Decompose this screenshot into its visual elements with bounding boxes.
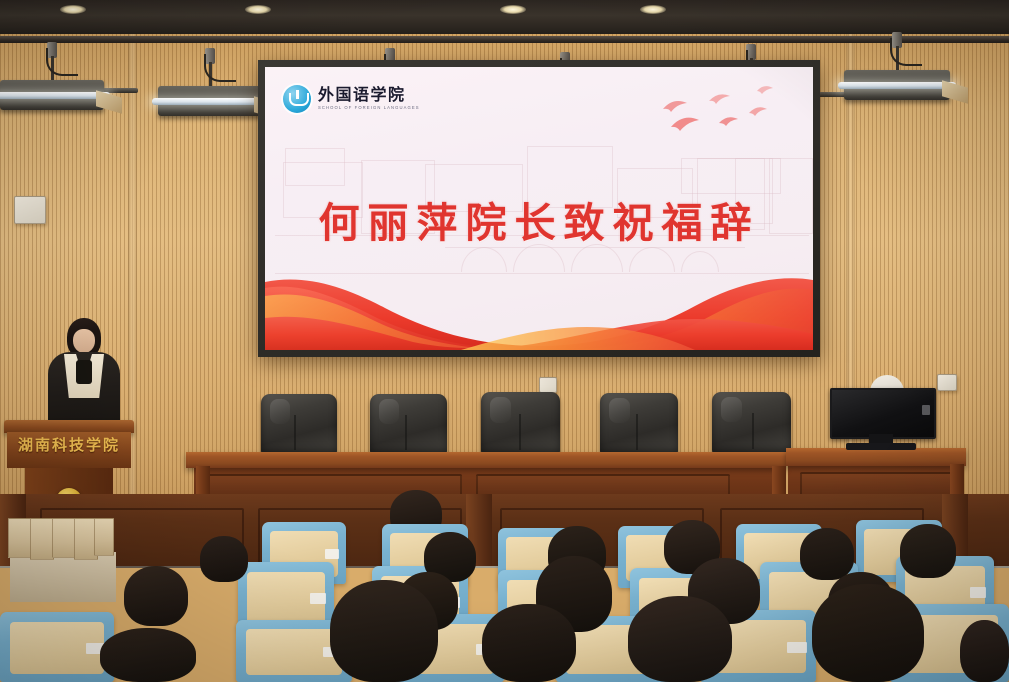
stage-spotlight-icon <box>844 32 950 108</box>
audience-head <box>900 524 956 578</box>
slide-logo: 外国语学院 SCHOOL OF FOREIGN LANGUAGES <box>283 85 420 113</box>
stage-spotlight-icon <box>0 42 104 118</box>
wall-switch-plate-icon <box>14 196 46 224</box>
audience-head <box>628 596 732 682</box>
audience-head <box>330 580 438 682</box>
wall-switch-plate-icon <box>937 374 957 391</box>
auditorium-seat <box>0 612 114 682</box>
slide-title: 何丽萍院长致祝福辞 <box>265 189 813 249</box>
red-ribbon-waves <box>265 266 813 350</box>
crown-badge-icon <box>283 85 311 113</box>
audience-head <box>200 536 248 582</box>
ceiling-downlight-icon <box>245 5 271 14</box>
podium-institution-name: 湖南科技学院 <box>4 434 134 455</box>
executive-chair <box>261 394 337 456</box>
executive-chair <box>481 392 560 456</box>
auditorium-photo-scene: 外国语学院 SCHOOL OF FOREIGN LANGUAGES 何丽萍院长致… <box>0 0 1009 682</box>
projection-screen: 外国语学院 SCHOOL OF FOREIGN LANGUAGES 何丽萍院长致… <box>258 60 820 357</box>
flying-swallows-icon <box>653 79 783 149</box>
audience-head <box>124 566 188 626</box>
gift-bags <box>8 518 110 558</box>
executive-chair <box>370 394 447 456</box>
computer-monitor-icon <box>830 388 932 450</box>
slide-logo-cn: 外国语学院 <box>318 87 420 103</box>
slide-logo-en: SCHOOL OF FOREIGN LANGUAGES <box>318 106 420 110</box>
audience-head <box>960 620 1009 682</box>
side-table <box>10 552 116 602</box>
executive-chair <box>600 393 678 456</box>
ceiling-downlight-icon <box>500 5 526 14</box>
ceiling-downlight-icon <box>60 5 86 14</box>
wall-switch-plate-icon <box>539 377 557 393</box>
conference-table-top <box>186 452 786 468</box>
slide-content: 外国语学院 SCHOOL OF FOREIGN LANGUAGES 何丽萍院长致… <box>265 67 813 350</box>
audience-head <box>800 528 854 580</box>
stage-spotlight-icon <box>158 48 262 124</box>
audience-head <box>482 604 576 682</box>
conference-table-top <box>786 448 966 466</box>
audience-head <box>100 628 196 682</box>
ceiling-downlight-icon <box>640 5 666 14</box>
audience-head <box>812 584 924 682</box>
executive-chair <box>712 392 791 455</box>
